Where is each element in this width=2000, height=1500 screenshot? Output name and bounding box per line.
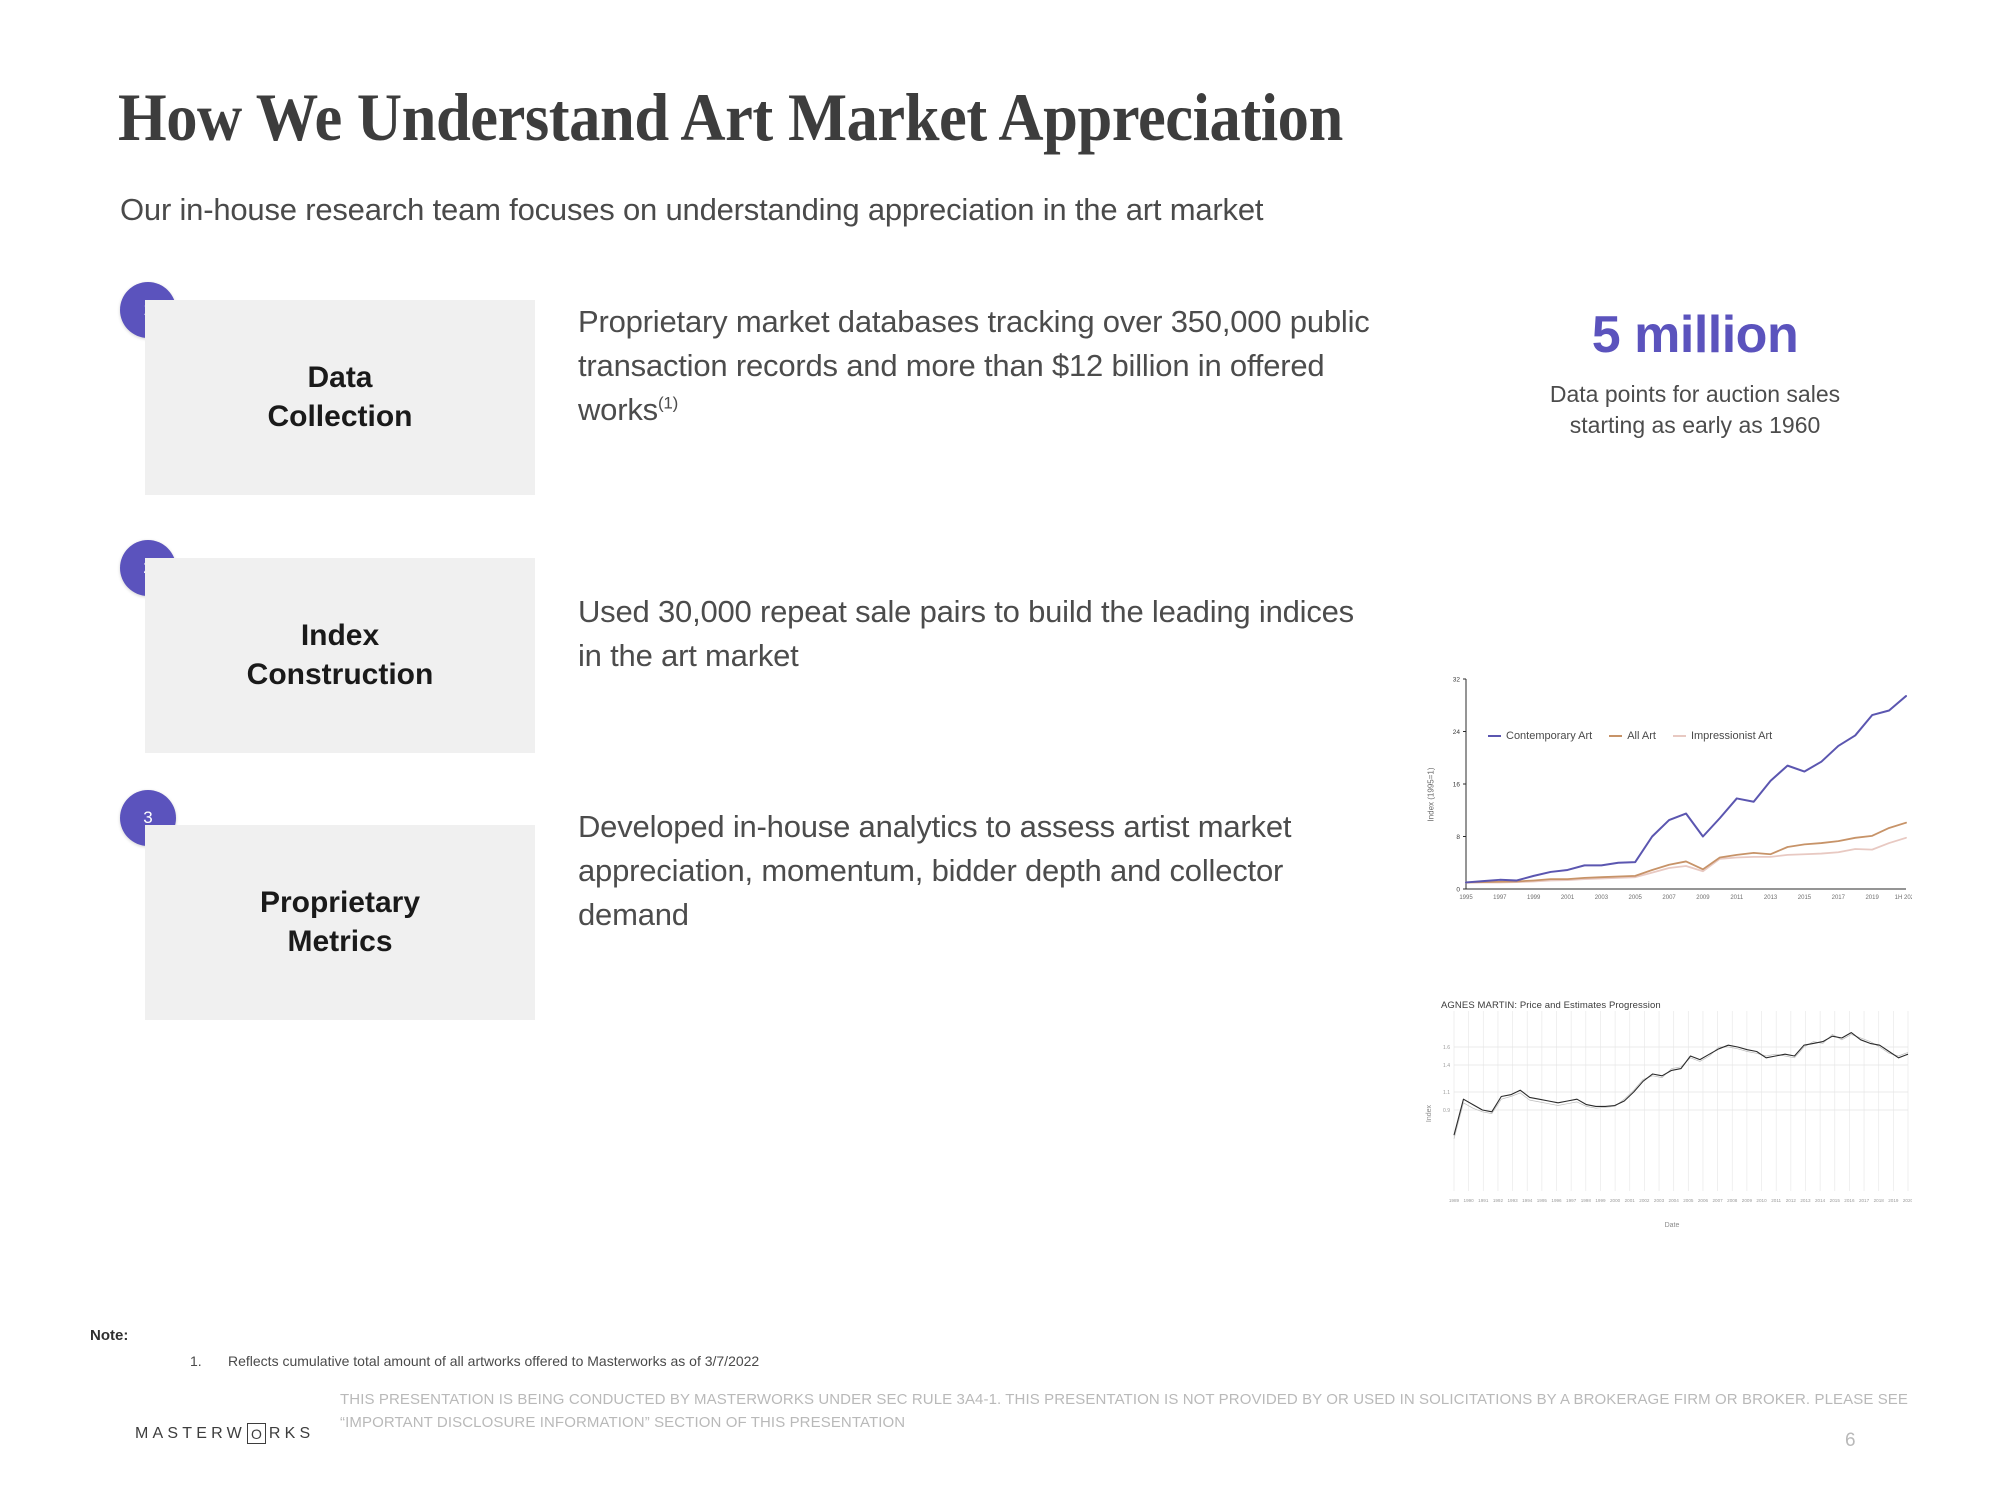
svg-text:2013: 2013 xyxy=(1800,1198,1811,1203)
legend-swatch-all-art xyxy=(1609,735,1622,737)
svg-text:1996: 1996 xyxy=(1551,1198,1562,1203)
svg-text:2003: 2003 xyxy=(1595,895,1609,901)
index-chart-legend: Contemporary Art All Art Impressionist A… xyxy=(1488,730,1772,742)
step-box-proprietary-metrics: Proprietary Metrics xyxy=(145,825,535,1020)
svg-text:1995: 1995 xyxy=(1537,1198,1548,1203)
agnes-martin-y-axis-title: Index xyxy=(1426,1105,1433,1122)
svg-text:1997: 1997 xyxy=(1493,895,1507,901)
step-label-1: Data Collection xyxy=(267,359,412,436)
svg-text:1993: 1993 xyxy=(1507,1198,1518,1203)
page-title: How We Understand Art Market Appreciatio… xyxy=(118,78,1343,157)
svg-text:2003: 2003 xyxy=(1654,1198,1665,1203)
step-body-2: Used 30,000 repeat sale pairs to build t… xyxy=(578,590,1378,678)
legend-label-impressionist-art: Impressionist Art xyxy=(1691,730,1772,742)
brand-text-part2: RKS xyxy=(269,1425,315,1443)
legend-label-all-art: All Art xyxy=(1627,730,1656,742)
svg-text:1990: 1990 xyxy=(1464,1198,1475,1203)
brand-text-part1: MASTERW xyxy=(135,1425,246,1443)
agnes-martin-chart: 1989199019911992199319941995199619971998… xyxy=(1432,995,1912,1230)
svg-text:2009: 2009 xyxy=(1742,1198,1753,1203)
step-body-3: Developed in-house analytics to assess a… xyxy=(578,805,1378,937)
svg-text:1995: 1995 xyxy=(1459,895,1473,901)
svg-text:32: 32 xyxy=(1453,677,1461,684)
svg-text:1.4: 1.4 xyxy=(1443,1063,1450,1069)
svg-text:16: 16 xyxy=(1453,782,1461,789)
svg-text:0.9: 0.9 xyxy=(1443,1108,1450,1114)
svg-text:2017: 2017 xyxy=(1859,1198,1870,1203)
svg-text:1999: 1999 xyxy=(1527,895,1541,901)
page-number: 6 xyxy=(1845,1430,1856,1452)
svg-text:2020: 2020 xyxy=(1903,1198,1912,1203)
footnote-marker-1: (1) xyxy=(658,394,678,413)
svg-text:1989: 1989 xyxy=(1449,1198,1460,1203)
svg-text:1.6: 1.6 xyxy=(1443,1045,1450,1051)
index-chart-y-axis-title: Index (1995=1) xyxy=(1427,767,1436,821)
svg-text:2005: 2005 xyxy=(1683,1198,1694,1203)
step-label-2: Index Construction xyxy=(247,617,434,694)
svg-text:2013: 2013 xyxy=(1764,895,1778,901)
legend-item-all-art: All Art xyxy=(1609,730,1656,742)
svg-text:2011: 2011 xyxy=(1730,895,1744,901)
svg-text:2015: 2015 xyxy=(1830,1198,1841,1203)
legend-swatch-contemporary-art xyxy=(1488,735,1501,737)
svg-text:2017: 2017 xyxy=(1832,895,1846,901)
svg-text:2016: 2016 xyxy=(1844,1198,1855,1203)
svg-text:1997: 1997 xyxy=(1566,1198,1577,1203)
note-number: 1. xyxy=(190,1353,202,1369)
svg-text:2001: 2001 xyxy=(1561,895,1575,901)
svg-text:1998: 1998 xyxy=(1581,1198,1592,1203)
svg-text:2009: 2009 xyxy=(1696,895,1710,901)
svg-text:8: 8 xyxy=(1456,834,1460,841)
note-text: Reflects cumulative total amount of all … xyxy=(228,1353,759,1369)
step-body-text-2: Used 30,000 repeat sale pairs to build t… xyxy=(578,594,1354,673)
svg-text:2012: 2012 xyxy=(1786,1198,1797,1203)
legend-swatch-impressionist-art xyxy=(1673,735,1686,737)
svg-text:2014: 2014 xyxy=(1815,1198,1826,1203)
svg-text:24: 24 xyxy=(1453,729,1461,736)
svg-text:0: 0 xyxy=(1456,887,1460,894)
index-construction-chart: 0816243219951997199920012003200520072009… xyxy=(1432,665,1912,935)
step-body-text-3: Developed in-house analytics to assess a… xyxy=(578,809,1291,932)
disclaimer-text: THIS PRESENTATION IS BEING CONDUCTED BY … xyxy=(340,1388,1940,1435)
page-subtitle: Our in-house research team focuses on un… xyxy=(120,192,1263,228)
svg-text:2011: 2011 xyxy=(1771,1198,1781,1203)
brand-boxed-letter: O xyxy=(247,1423,266,1444)
step-body-text-1: Proprietary market databases tracking ov… xyxy=(578,304,1370,427)
stat-callout: 5 million Data points for auction sales … xyxy=(1470,305,1920,441)
note-label: Note: xyxy=(90,1327,128,1344)
legend-item-contemporary-art: Contemporary Art xyxy=(1488,730,1592,742)
legend-label-contemporary-art: Contemporary Art xyxy=(1506,730,1592,742)
step-label-3: Proprietary Metrics xyxy=(260,884,420,961)
svg-text:2018: 2018 xyxy=(1874,1198,1885,1203)
svg-text:2008: 2008 xyxy=(1727,1198,1738,1203)
svg-text:2019: 2019 xyxy=(1865,895,1879,901)
svg-text:2001: 2001 xyxy=(1625,1198,1636,1203)
svg-text:2006: 2006 xyxy=(1698,1198,1709,1203)
svg-text:1992: 1992 xyxy=(1493,1198,1504,1203)
svg-text:1999: 1999 xyxy=(1595,1198,1606,1203)
stat-value: 5 million xyxy=(1470,305,1920,365)
svg-text:2019: 2019 xyxy=(1888,1198,1899,1203)
svg-text:2007: 2007 xyxy=(1712,1198,1723,1203)
agnes-martin-x-axis-title: Date xyxy=(1432,1222,1912,1229)
svg-text:2015: 2015 xyxy=(1798,895,1812,901)
svg-text:2002: 2002 xyxy=(1639,1198,1650,1203)
svg-text:1H 2021: 1H 2021 xyxy=(1895,895,1912,901)
svg-text:1991: 1991 xyxy=(1478,1198,1489,1203)
stat-caption: Data points for auction sales starting a… xyxy=(1470,379,1920,441)
masterworks-logo: MASTERWORKS xyxy=(135,1423,314,1444)
step-box-index-construction: Index Construction xyxy=(145,558,535,753)
step-box-data-collection: Data Collection xyxy=(145,300,535,495)
svg-text:2004: 2004 xyxy=(1669,1198,1680,1203)
agnes-martin-chart-title: AGNES MARTIN: Price and Estimates Progre… xyxy=(1441,1000,1661,1011)
legend-item-impressionist-art: Impressionist Art xyxy=(1673,730,1772,742)
svg-text:2007: 2007 xyxy=(1662,895,1676,901)
svg-text:1.1: 1.1 xyxy=(1443,1090,1450,1096)
svg-text:2000: 2000 xyxy=(1610,1198,1621,1203)
svg-text:2010: 2010 xyxy=(1756,1198,1767,1203)
step-body-1: Proprietary market databases tracking ov… xyxy=(578,300,1378,432)
svg-text:1994: 1994 xyxy=(1522,1198,1533,1203)
svg-text:2005: 2005 xyxy=(1629,895,1643,901)
